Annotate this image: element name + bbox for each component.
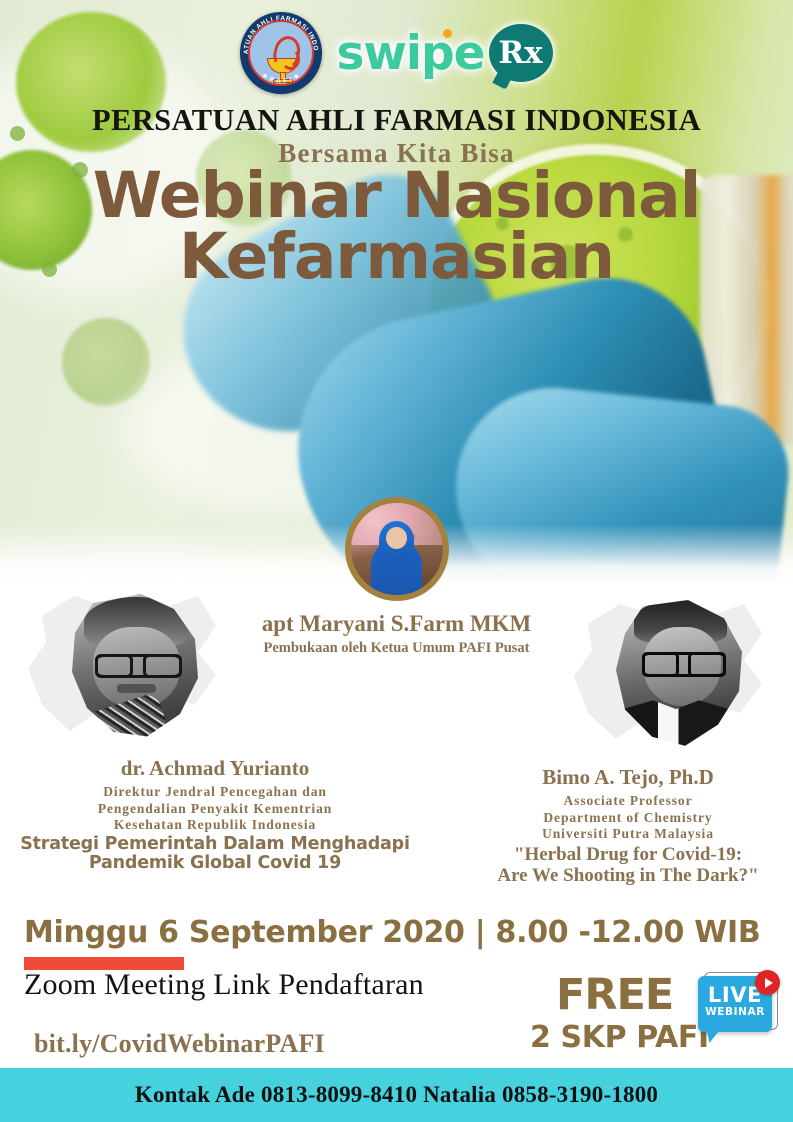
speaker-left-credential-line3: Kesehatan Republik Indonesia	[0, 817, 430, 833]
speaker-left-topic: Strategi Pemerintah Dalam Menghadapi Pan…	[0, 835, 430, 874]
event-platform-line: Zoom Meeting Link Pendaftaran	[24, 968, 424, 1002]
webinar-poster: PERSATUAN AHLI FARMASI INDONESIA ★ P A F…	[0, 0, 793, 1122]
speaker-left-credential-line1: Direktur Jendral Pencegahan dan	[0, 784, 430, 800]
registration-link[interactable]: bit.ly/CovidWebinarPAFI	[34, 1029, 325, 1059]
speaker-right-name: Bimo A. Tejo, Ph.D	[463, 765, 793, 789]
contact-bar: Kontak Ade 0813-8099-8410 Natalia 0858-3…	[0, 1068, 793, 1122]
speaker-right-topic: "Herbal Drug for Covid-19: Are We Shooti…	[463, 844, 793, 887]
speaker-right-photo	[568, 594, 768, 759]
photo-face	[386, 527, 406, 549]
virus-particle-icon	[62, 318, 150, 406]
logo-row: PERSATUAN AHLI FARMASI INDONESIA ★ P A F…	[0, 8, 793, 98]
headshot-moustache	[117, 684, 156, 693]
page-title: Webinar Nasional Kefarmasian	[0, 165, 793, 287]
pafi-logo-icon: PERSATUAN AHLI FARMASI INDONESIA ★ P A F…	[240, 12, 322, 94]
price-free-label: FREE	[556, 970, 673, 1020]
speaker-right-credential-line1: Associate Professor	[463, 793, 793, 809]
swipe-wordmark: swipe	[336, 30, 484, 77]
contact-text: Kontak Ade 0813-8099-8410 Natalia 0858-3…	[135, 1082, 658, 1108]
speaker-left-topic-line1: Strategi Pemerintah Dalam Menghadapi	[0, 835, 430, 854]
speaker-right-credentials: Associate Professor Department of Chemis…	[463, 793, 793, 842]
play-button-icon	[755, 970, 780, 995]
speaker-center-photo	[351, 503, 443, 595]
speaker-right-topic-line1: "Herbal Drug for Covid-19:	[463, 844, 793, 865]
rx-speech-bubble-icon: Rx	[489, 24, 553, 82]
swipe-dot-icon	[443, 29, 452, 38]
live-badge-secondary-text: WEBINAR	[698, 1007, 772, 1018]
skp-credits-label: 2 SKP PAFI	[530, 1020, 709, 1055]
event-date-time: Minggu 6 September 2020 | 8.00 -12.00 WI…	[24, 915, 760, 950]
pafi-ring-top-text: PERSATUAN AHLI FARMASI INDONESIA	[240, 12, 319, 54]
organization-name: PERSATUAN AHLI FARMASI INDONESIA	[0, 103, 793, 138]
avatar	[345, 497, 449, 601]
speaker-right-credential-line2: Department of Chemistry	[463, 810, 793, 826]
glasses-icon	[98, 654, 179, 678]
speaker-right-info: Bimo A. Tejo, Ph.D Associate Professor D…	[463, 765, 793, 886]
swiperx-logo: swipe Rx	[336, 24, 552, 82]
speaker-left-credential-line2: Pengendalian Penyakit Kementrian	[0, 801, 430, 817]
pafi-ring-bottom-text: ★ P A F I ★	[260, 71, 302, 85]
glasses-icon	[645, 652, 723, 678]
headshot-suit	[619, 700, 733, 752]
speaker-right-topic-line2: Are We Shooting in The Dark?"	[463, 865, 793, 886]
main-title-line2: Kefarmasian	[0, 226, 793, 287]
speaker-left-info: dr. Achmad Yurianto Direktur Jendral Pen…	[0, 756, 430, 873]
svg-text:PERSATUAN AHLI FARMASI INDONES: PERSATUAN AHLI FARMASI INDONESIA	[240, 12, 319, 54]
speaker-left-topic-line2: Pandemik Global Covid 19	[0, 854, 430, 873]
svg-text:★ P A F I ★: ★ P A F I ★	[260, 71, 302, 85]
speaker-left-photo	[22, 586, 222, 751]
pafi-ring-text: PERSATUAN AHLI FARMASI INDONESIA ★ P A F…	[240, 12, 322, 94]
swipe-wordmark-text: swipe	[336, 26, 484, 81]
speaker-left-name: dr. Achmad Yurianto	[0, 756, 430, 780]
live-webinar-badge-icon: LIVE WEBINAR	[694, 970, 780, 1046]
speaker-left-credentials: Direktur Jendral Pencegahan dan Pengenda…	[0, 784, 430, 833]
speaker-right-credential-line3: Universiti Putra Malaysia	[463, 826, 793, 842]
rx-text: Rx	[498, 38, 542, 69]
